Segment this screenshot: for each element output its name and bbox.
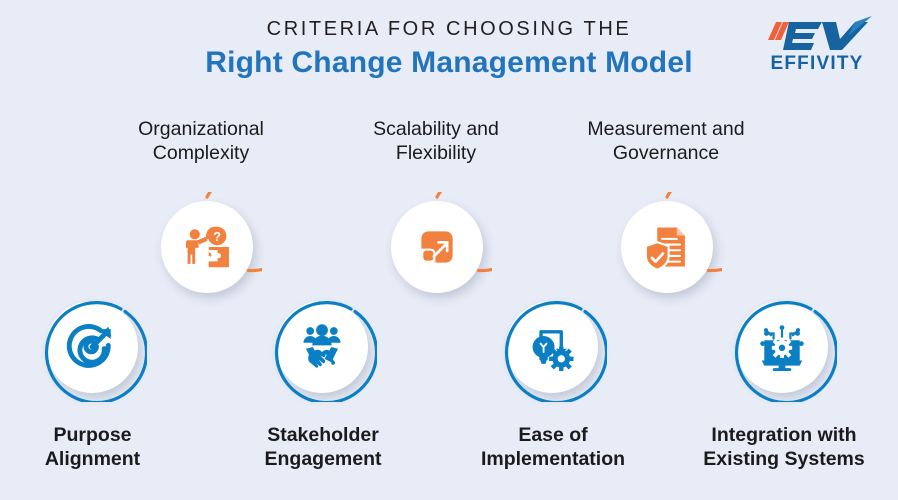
caption-line-2: Flexibility bbox=[330, 142, 542, 166]
caption-line-1: Organizational bbox=[95, 118, 307, 142]
caption-line-1: Ease of bbox=[453, 424, 653, 448]
caption-organizational-complexity: Organizational Complexity bbox=[95, 118, 307, 166]
caption-line-2: Alignment bbox=[0, 448, 185, 472]
icon-node-integration-existing-systems[interactable] bbox=[727, 292, 837, 402]
lightbulb-gear-icon bbox=[506, 301, 598, 393]
caption-measurement-governance: Measurement and Governance bbox=[560, 118, 772, 166]
effivity-logo[interactable]: EFFIVITY bbox=[756, 12, 878, 74]
person-question-puzzle-icon: ? bbox=[161, 201, 253, 293]
resize-arrow-icon bbox=[391, 201, 483, 293]
document-shield-check-icon bbox=[621, 201, 713, 293]
caption-line-1: Purpose bbox=[0, 424, 185, 448]
caption-scalability-flexibility: Scalability and Flexibility bbox=[330, 118, 542, 166]
caption-stakeholder-engagement: Stakeholder Engagement bbox=[228, 424, 418, 472]
svg-text:?: ? bbox=[213, 230, 221, 244]
caption-line-2: Engagement bbox=[228, 448, 418, 472]
icon-node-scalability-flexibility[interactable] bbox=[382, 192, 492, 302]
caption-line-1: Scalability and bbox=[330, 118, 542, 142]
target-arrow-icon bbox=[46, 301, 138, 393]
caption-integration-existing-systems: Integration with Existing Systems bbox=[673, 424, 895, 472]
logo-wordmark: EFFIVITY bbox=[771, 53, 864, 74]
infographic-canvas: CRITERIA FOR CHOOSING THE Right Change M… bbox=[0, 0, 898, 500]
icon-node-purpose-alignment[interactable] bbox=[37, 292, 147, 402]
icon-node-ease-of-implementation[interactable] bbox=[497, 292, 607, 402]
icon-node-organizational-complexity[interactable]: ? bbox=[152, 192, 262, 302]
caption-line-1: Stakeholder bbox=[228, 424, 418, 448]
caption-ease-of-implementation: Ease of Implementation bbox=[453, 424, 653, 472]
icon-node-stakeholder-engagement[interactable] bbox=[267, 292, 377, 402]
caption-line-1: Integration with bbox=[673, 424, 895, 448]
caption-line-2: Governance bbox=[560, 142, 772, 166]
caption-line-2: Complexity bbox=[95, 142, 307, 166]
caption-line-2: Implementation bbox=[453, 448, 653, 472]
people-handshake-icon bbox=[276, 301, 368, 393]
icon-node-measurement-governance[interactable] bbox=[612, 192, 722, 302]
caption-purpose-alignment: Purpose Alignment bbox=[0, 424, 185, 472]
caption-line-2: Existing Systems bbox=[673, 448, 895, 472]
logo-ev-mark bbox=[768, 16, 872, 50]
caption-line-1: Measurement and bbox=[560, 118, 772, 142]
monitor-gear-network-icon bbox=[736, 301, 828, 393]
